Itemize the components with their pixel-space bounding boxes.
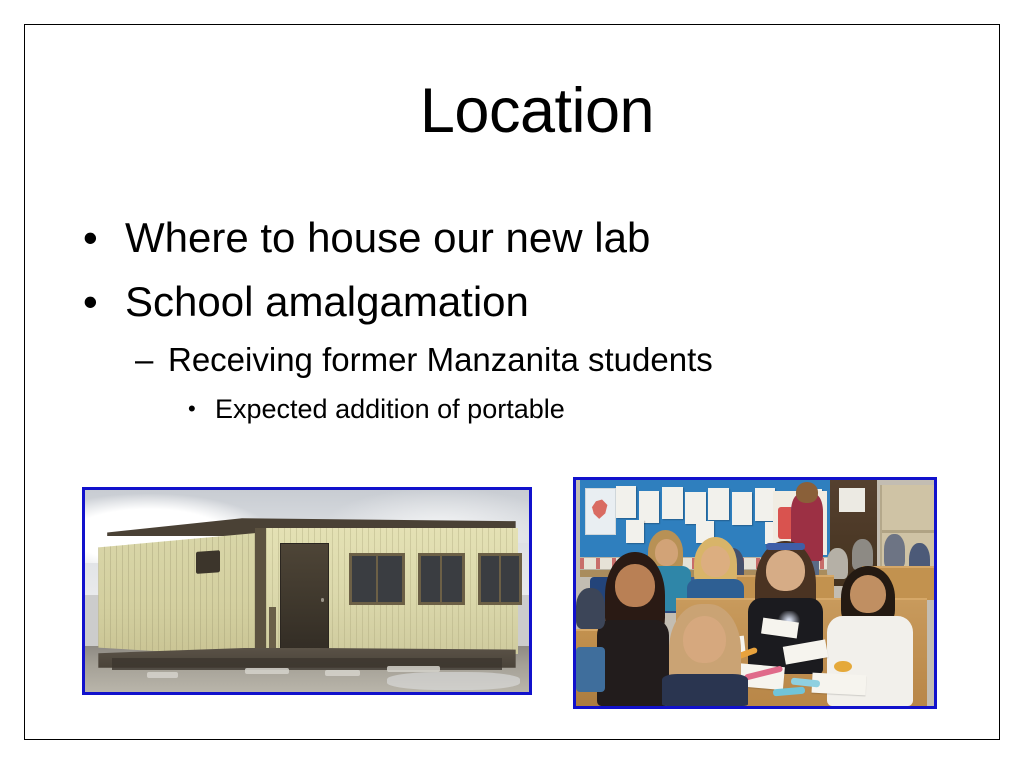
- map-poster: [585, 488, 616, 536]
- student-face: [655, 539, 678, 566]
- slide: Location • Where to house our new lab • …: [0, 0, 1024, 768]
- dash-marker-icon: –: [135, 336, 168, 384]
- background-student: [576, 588, 605, 629]
- building-door: [280, 543, 329, 650]
- wet-pavement: [387, 672, 520, 690]
- ground-debris: [245, 668, 289, 674]
- building-end-wall: [98, 532, 262, 657]
- bullet-marker-icon: •: [83, 272, 125, 332]
- student-face: [701, 546, 730, 578]
- ground-debris: [147, 672, 178, 678]
- background-student: [884, 534, 905, 568]
- ground-debris: [387, 666, 440, 672]
- portable-classroom-photo-content: [85, 490, 529, 692]
- bullet-item-level1: • School amalgamation: [25, 272, 1024, 332]
- classroom-chair: [576, 647, 605, 692]
- wall-vent: [196, 550, 220, 574]
- bullet-item-level3: • Expected addition of portable: [25, 388, 1024, 430]
- building-window: [478, 553, 522, 606]
- slide-frame: Location • Where to house our new lab • …: [24, 24, 1000, 740]
- student-torso: [662, 674, 748, 706]
- craft-supply: [834, 661, 852, 672]
- building-window: [349, 553, 405, 606]
- bullet-marker-icon: •: [188, 388, 215, 430]
- door-window: [839, 488, 865, 511]
- student-face: [683, 616, 726, 663]
- classroom-students-photo-content: [576, 480, 934, 706]
- bullet-text: School amalgamation: [125, 272, 529, 332]
- teacher-head: [796, 482, 817, 502]
- student-headband: [766, 543, 805, 550]
- bullet-text: Receiving former Manzanita students: [168, 336, 713, 384]
- bullet-list: • Where to house our new lab • School am…: [25, 208, 1024, 430]
- bullet-item-level1: • Where to house our new lab: [25, 208, 1024, 268]
- ground-debris: [325, 670, 361, 676]
- craft-paper: [812, 673, 867, 696]
- page-title: Location: [25, 75, 1024, 147]
- door-handle: [321, 598, 324, 602]
- bullet-text: Expected addition of portable: [215, 388, 565, 430]
- bullet-text: Where to house our new lab: [125, 208, 650, 268]
- student-face: [850, 575, 886, 613]
- building-underframe: [112, 658, 503, 670]
- classroom-students-photo: [573, 477, 937, 709]
- siding-texture: [98, 532, 262, 657]
- student-face: [766, 550, 805, 591]
- building-window: [418, 553, 465, 606]
- bullet-marker-icon: •: [83, 208, 125, 268]
- shelf: [882, 530, 934, 533]
- door-rail: [269, 607, 276, 649]
- student-torso: [597, 620, 669, 706]
- student-face: [615, 564, 654, 607]
- portable-classroom-photo: [82, 487, 532, 695]
- corner-post: [255, 528, 266, 657]
- bullet-item-level2: – Receiving former Manzanita students: [25, 336, 1024, 384]
